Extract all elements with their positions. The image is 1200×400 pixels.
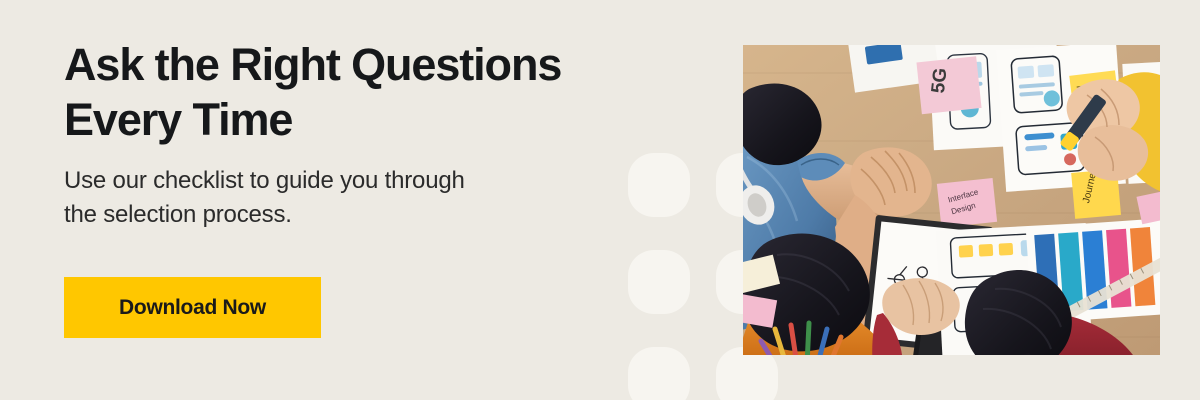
workshop-photo: 5G Journey Interface Design bbox=[743, 45, 1160, 355]
headline-line-1: Ask the Right Questions bbox=[64, 38, 624, 93]
page-title: Ask the Right Questions Every Time bbox=[64, 38, 624, 148]
cta-banner: Ask the Right Questions Every Time Use o… bbox=[0, 0, 1200, 400]
headline-line-2: Every Time bbox=[64, 93, 624, 148]
subheading-line-2: the selection process. bbox=[64, 198, 604, 232]
svg-text:5G: 5G bbox=[928, 67, 952, 94]
subheading-line-1: Use our checklist to guide you through bbox=[64, 164, 604, 198]
download-now-button[interactable]: Download Now bbox=[64, 277, 321, 338]
subheading: Use our checklist to guide you through t… bbox=[64, 164, 604, 232]
banner-content: Ask the Right Questions Every Time Use o… bbox=[64, 0, 664, 400]
workshop-photo-illustration: 5G Journey Interface Design bbox=[743, 45, 1160, 355]
